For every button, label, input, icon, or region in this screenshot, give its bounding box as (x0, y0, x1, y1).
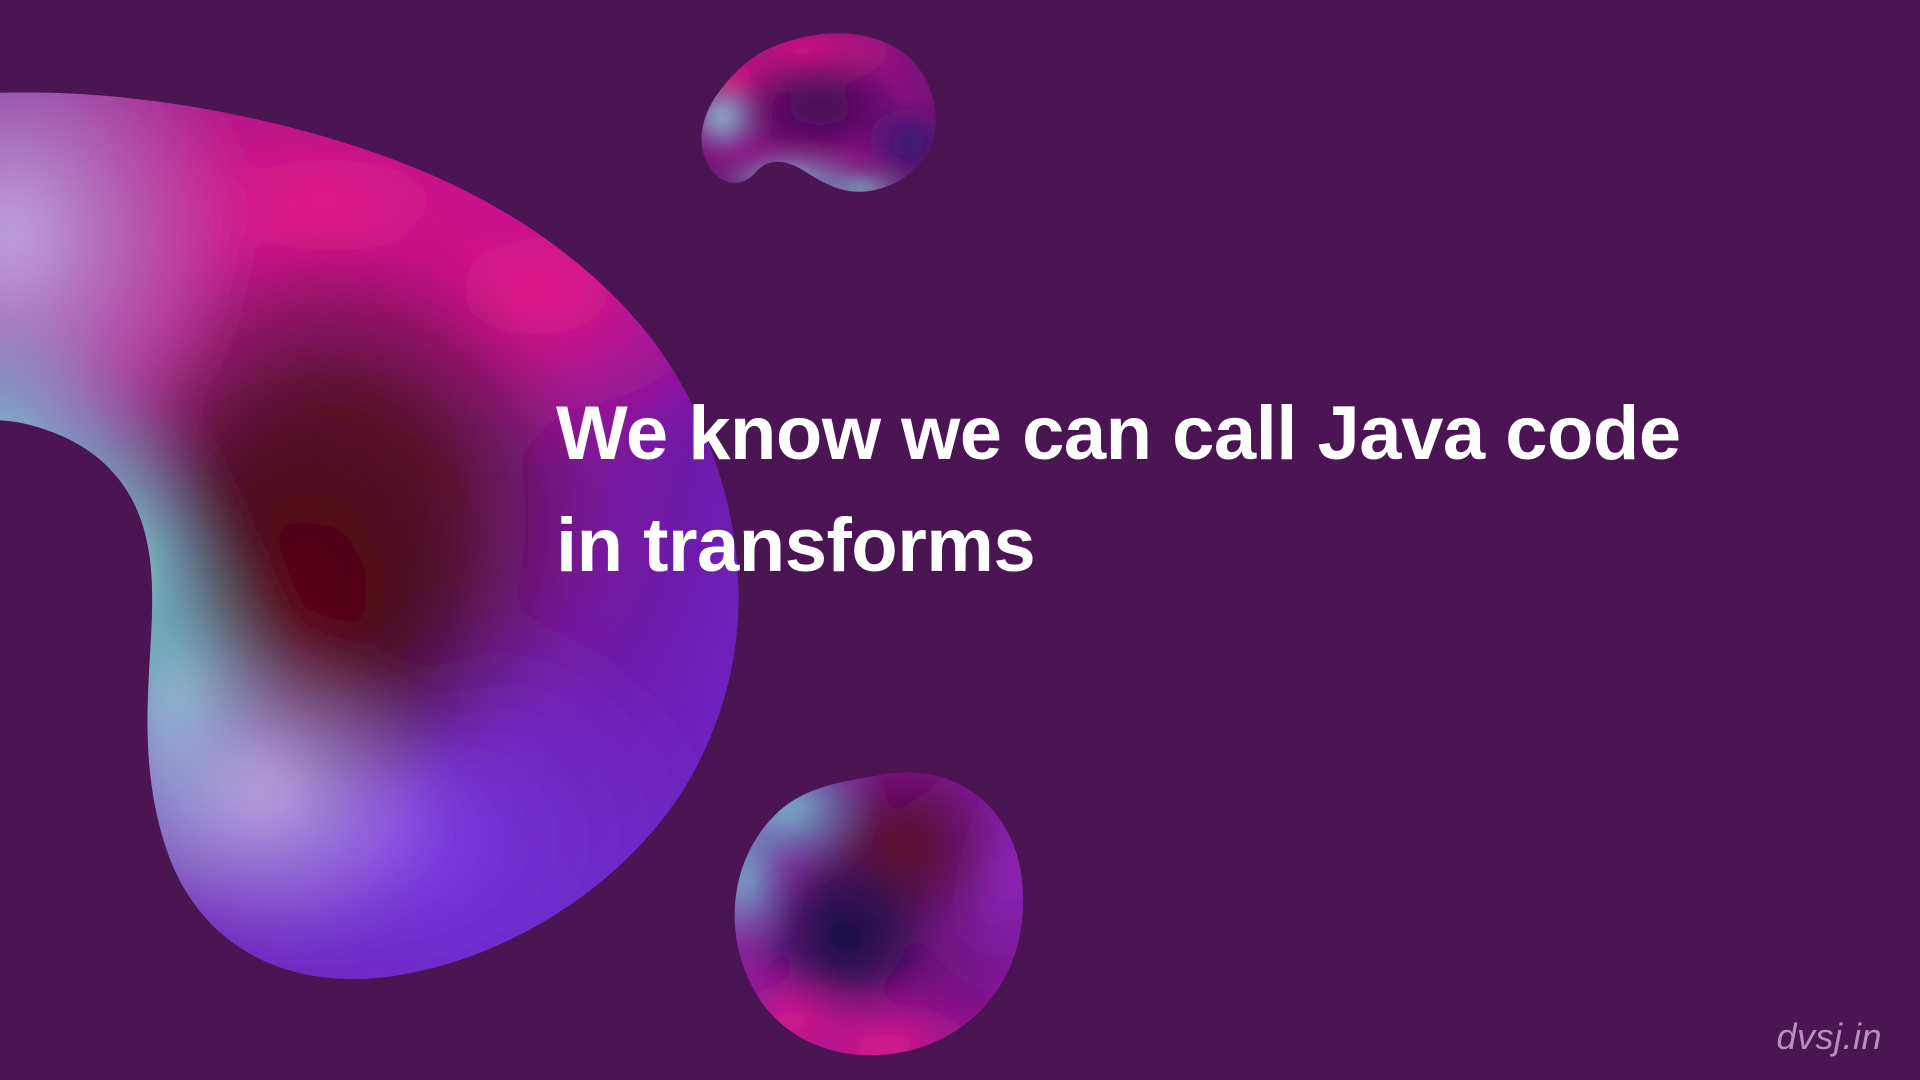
lower-circle-blob (694, 730, 1115, 1080)
slide-canvas: We know we can call Java code in transfo… (0, 0, 1920, 1080)
slide-title: We know we can call Java code in transfo… (556, 378, 1886, 602)
watermark-dvsj: dvsj.in (1776, 1016, 1882, 1058)
title-line-2: in transforms (556, 490, 1886, 602)
top-bean-blob (680, 10, 954, 210)
title-line-1: We know we can call Java code (556, 378, 1886, 490)
